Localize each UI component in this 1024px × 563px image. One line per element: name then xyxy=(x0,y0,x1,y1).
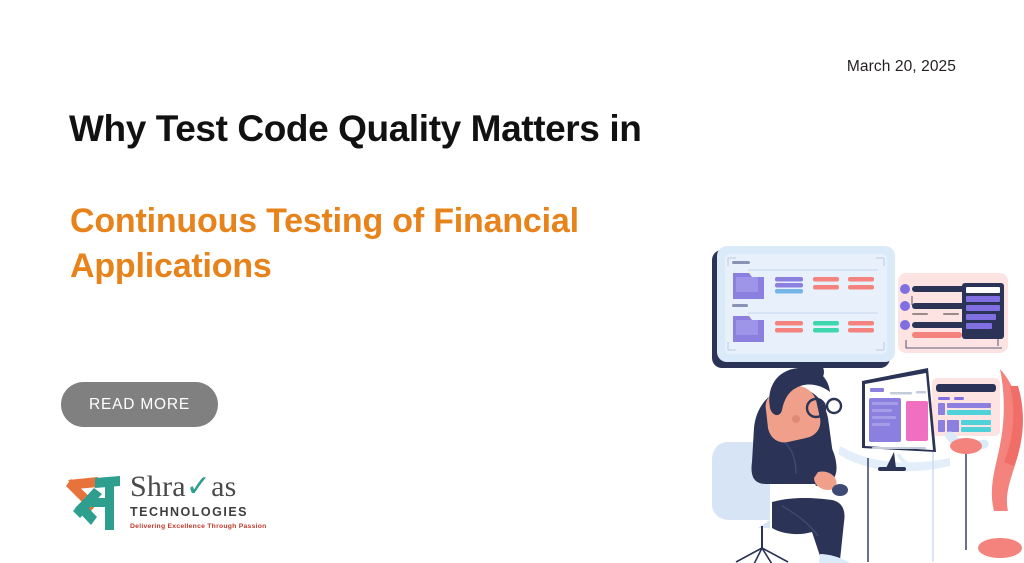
poster-canvas: March 20, 2025 Why Test Code Quality Mat… xyxy=(0,0,1024,563)
person-figure xyxy=(752,362,854,563)
brand-subtitle: TECHNOLOGIES xyxy=(130,505,270,520)
dashboard-screen xyxy=(712,246,895,368)
hero-illustration xyxy=(700,236,1024,563)
shravas-mark-icon xyxy=(64,468,126,534)
brand-name-part1: Shra xyxy=(130,470,186,503)
publish-date: March 20, 2025 xyxy=(847,58,956,76)
desktop-monitor xyxy=(862,368,936,471)
brand-name-part2: as xyxy=(211,470,236,503)
slider-panel xyxy=(898,273,1008,353)
brand-tagline: Delivering Excellence Through Passion xyxy=(130,523,270,530)
brand-name: Shra✓as xyxy=(130,470,270,504)
page-subtitle: Continuous Testing of Financial Applicat… xyxy=(70,199,710,289)
read-more-button[interactable]: READ MORE xyxy=(61,382,218,427)
brand-wordmark: Shra✓as TECHNOLOGIES Delivering Excellen… xyxy=(130,470,270,530)
brand-logo[interactable]: Shra✓as TECHNOLOGIES Delivering Excellen… xyxy=(64,466,264,542)
check-icon: ✓ xyxy=(186,470,211,503)
page-title: Why Test Code Quality Matters in xyxy=(69,106,729,152)
